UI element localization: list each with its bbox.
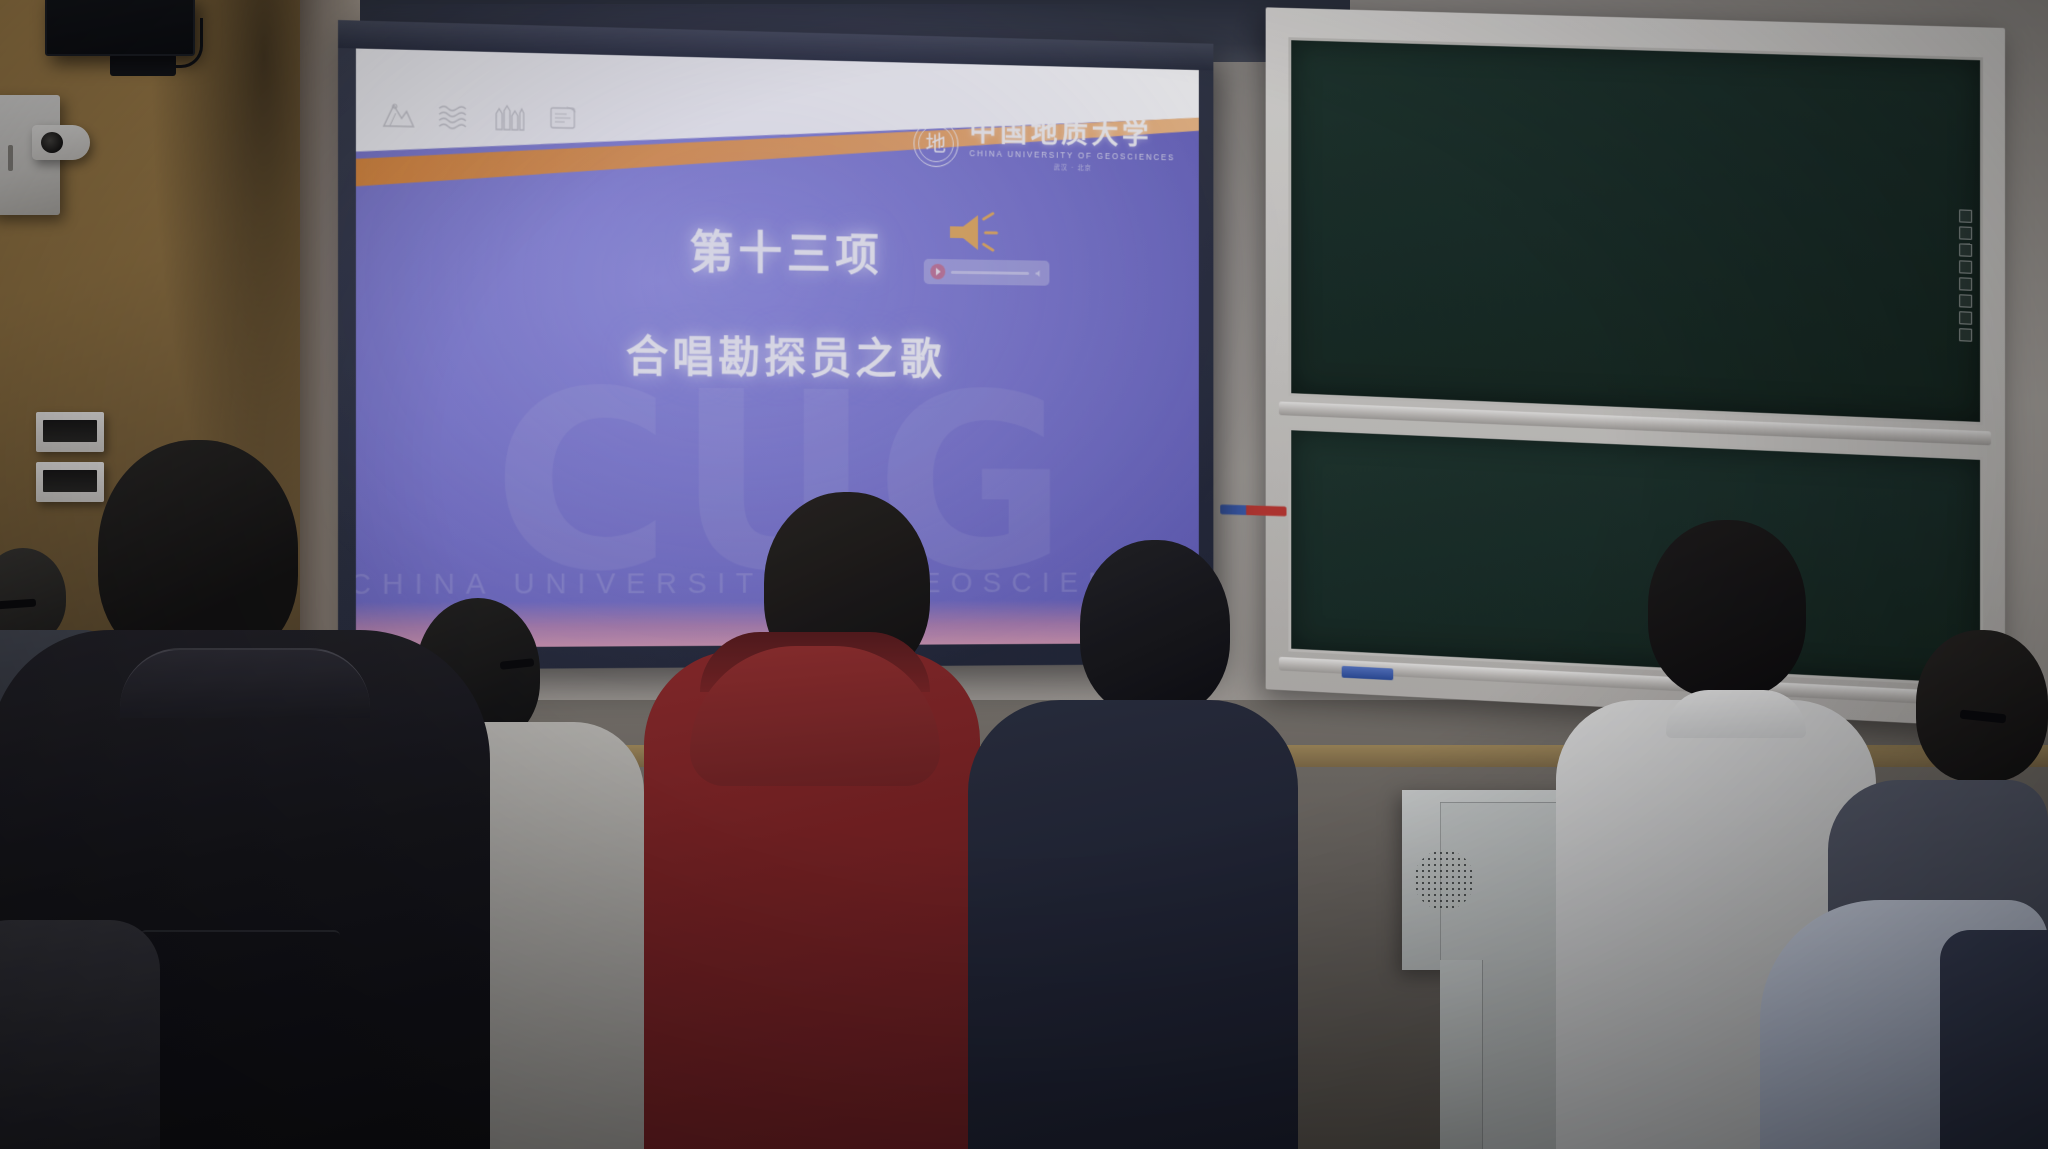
board-icon[interactable] [1959,328,1972,341]
blackboard-icon-strip-top[interactable] [1959,209,1972,341]
marker-set[interactable] [1220,505,1286,517]
monitor-bracket [110,54,176,76]
person-front-left-jacket-collar [120,648,370,718]
classroom-scene: 地 中国地质大学 CHINA UNIVERSITY OF GEOSCIENCES… [0,0,2048,1149]
person-white-shirt-collar [1666,690,1806,738]
person-bottom-left-shoulder [0,920,160,1149]
person-navy-hoodie-head [1080,540,1230,716]
blackboard-panel-top[interactable] [1288,37,1983,425]
wall-panel-inner [43,470,97,492]
play-icon[interactable] [930,264,945,280]
person-front-left-jacket-pocket [140,930,340,1050]
audio-progress-track[interactable] [951,270,1029,274]
wall-box-slot [8,145,13,171]
board-icon[interactable] [1959,294,1972,307]
document-icon [547,103,580,133]
megaphone-icon [946,211,998,256]
board-icon[interactable] [1959,260,1972,273]
mountain-icon [382,99,416,130]
cug-logo: 地 中国地质大学 CHINA UNIVERSITY OF GEOSCIENCES… [913,117,1175,174]
cug-chinese-name: 中国地质大学 [969,118,1175,150]
wall-speaker [32,125,90,160]
slide-header-icon-row [382,99,580,133]
board-icon[interactable] [1959,277,1972,290]
waves-icon [437,100,470,131]
board-icon[interactable] [1959,226,1972,239]
slide-subtitle: 合唱勘探员之歌 [626,321,946,387]
wall-mounted-monitor[interactable] [45,0,195,56]
board-icon[interactable] [1959,311,1972,324]
blackboard-panel-bottom[interactable] [1288,427,1983,687]
person-right-glasses-head [1916,630,2048,782]
speaker-cone-icon [41,132,63,153]
wall-panel-upper[interactable] [36,412,104,452]
cug-established: 武汉 · 北京 [969,160,1175,174]
board-icon[interactable] [1959,209,1972,222]
crystal-bars-icon [492,102,525,132]
audio-player-widget[interactable] [924,259,1050,286]
person-light-blue-shirt-shoulder [1940,930,2048,1149]
cug-logo-text: 中国地质大学 CHINA UNIVERSITY OF GEOSCIENCES 武… [969,118,1175,173]
wall-panel-lower[interactable] [36,462,104,502]
cug-seal-glyph: 地 [926,132,947,154]
slide-title: 第十三项 [689,216,883,283]
cug-seal-icon: 地 [913,119,958,166]
blackboard[interactable] [1266,7,2005,728]
board-icon[interactable] [1959,243,1972,256]
speaker-icon[interactable] [1035,269,1043,278]
wall-panel-inner [43,420,97,442]
podium-speaker-grille-icon [1414,850,1474,910]
person-white-shirt-head [1648,520,1806,698]
